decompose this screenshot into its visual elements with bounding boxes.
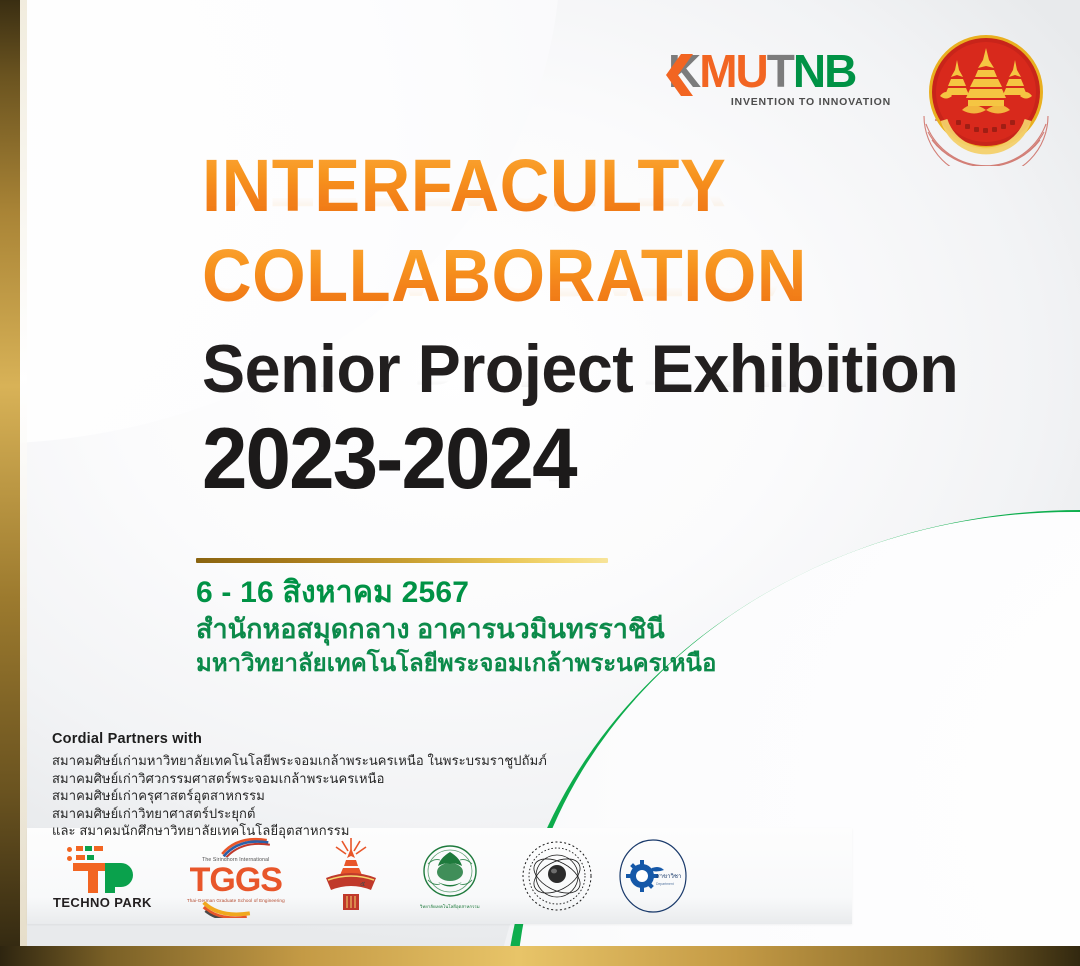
frame-left-highlight bbox=[20, 0, 27, 946]
logo-blue-gear: สาขาวิชา Department bbox=[614, 834, 692, 918]
kmutnb-tagline: INVENTION TO INNOVATION bbox=[668, 96, 893, 108]
headline-row-4: 2023-2024 2023-2024 bbox=[202, 414, 962, 504]
partner-item: สมาคมศิษย์เก่าวิศวกรรมศาสตร์พระจอมเกล้าพ… bbox=[52, 770, 547, 788]
svg-text:Department: Department bbox=[656, 882, 674, 886]
headline-line-senior-project: Senior Project Exhibition bbox=[202, 332, 924, 406]
headline-line-interfaculty: INTERFACULTY bbox=[202, 152, 909, 220]
headline-row-3: Senior Project Exhibition Senior Project… bbox=[202, 332, 962, 406]
partner-logo-strip: TECHNO PARK The Sirindhorn International… bbox=[27, 828, 852, 924]
kmutnb-letter-mu: MU bbox=[699, 45, 767, 97]
partner-item: และ สมาคมนักศึกษาวิทยาลัยเทคโนโลยีอุตสาห… bbox=[52, 822, 547, 840]
logo-black-seal bbox=[518, 834, 596, 918]
black-circular-seal-icon bbox=[518, 836, 596, 916]
poster-canvas: KMUTNB INVENTION TO INNOVATION bbox=[0, 0, 1080, 966]
blue-gear-icon: สาขาวิชา Department bbox=[614, 836, 692, 916]
logo-orange-crest: ๕ bbox=[320, 834, 382, 918]
svg-text:๕: ๕ bbox=[360, 881, 365, 888]
partner-item: สมาคมศิษย์เก่ามหาวิทยาลัยเทคโนโลยีพระจอม… bbox=[52, 752, 547, 770]
svg-text:สาขาวิชา: สาขาวิชา bbox=[656, 873, 681, 880]
event-date: 6 - 16 สิงหาคม 2567 bbox=[196, 574, 716, 612]
headline-line-collaboration: COLLABORATION bbox=[202, 242, 909, 310]
frame-bottom-gold bbox=[0, 946, 1080, 966]
headline-block: INTERFACULTY INTERFACULTY COLLABORATION … bbox=[202, 152, 962, 504]
logo-techno-park: TECHNO PARK bbox=[53, 834, 152, 918]
gold-divider bbox=[196, 558, 608, 563]
royal-seal-icon bbox=[916, 24, 1056, 166]
kmutnb-letter-nb: NB bbox=[793, 45, 855, 97]
techno-park-label: TECHNO PARK bbox=[53, 895, 152, 910]
event-details: 6 - 16 สิงหาคม 2567 สำนักหอสมุดกลาง อาคา… bbox=[196, 574, 716, 680]
tggs-wordmark: TGGS bbox=[190, 863, 282, 897]
event-venue: สำนักหอสมุดกลาง อาคารนวมินทรราชินี bbox=[196, 612, 716, 647]
green-seal-icon bbox=[414, 842, 486, 902]
kmutnb-letter-t: T bbox=[767, 45, 793, 97]
techno-park-mark-icon bbox=[59, 843, 145, 893]
logo-tggs: The Sirindhorn International TGGS Thai-G… bbox=[170, 834, 302, 918]
headline-row-1: INTERFACULTY INTERFACULTY bbox=[202, 152, 962, 220]
kmutnb-wordmark: KMUTNB bbox=[668, 48, 893, 94]
partners-title: Cordial Partners with bbox=[52, 731, 547, 747]
kmutnb-logo: KMUTNB INVENTION TO INNOVATION bbox=[668, 48, 893, 110]
partner-item: สมาคมศิษย์เก่าวิทยาศาสตร์ประยุกต์ bbox=[52, 805, 547, 823]
logo-green-seal: วิทยาลัยเทคโนโลยีอุตสาหกรรม bbox=[400, 834, 500, 918]
partner-item: สมาคมศิษย์เก่าครุศาสตร์อุตสาหกรรม bbox=[52, 787, 547, 805]
partners-block: Cordial Partners with สมาคมศิษย์เก่ามหาว… bbox=[52, 731, 547, 840]
frame-left-gold bbox=[0, 0, 20, 966]
headline-line-year: 2023-2024 bbox=[202, 414, 924, 504]
kmutnb-chevron-icon bbox=[666, 52, 700, 98]
orange-crest-icon: ๕ bbox=[320, 834, 382, 918]
headline-row-2: COLLABORATION COLLABORATION bbox=[202, 242, 962, 310]
tggs-swoosh-icon bbox=[188, 901, 284, 918]
event-university: มหาวิทยาลัยเทคโนโลยีพระจอมเกล้าพระนครเหน… bbox=[196, 647, 716, 680]
green-seal-sub-text: วิทยาลัยเทคโนโลยีอุตสาหกรรม bbox=[420, 904, 480, 910]
